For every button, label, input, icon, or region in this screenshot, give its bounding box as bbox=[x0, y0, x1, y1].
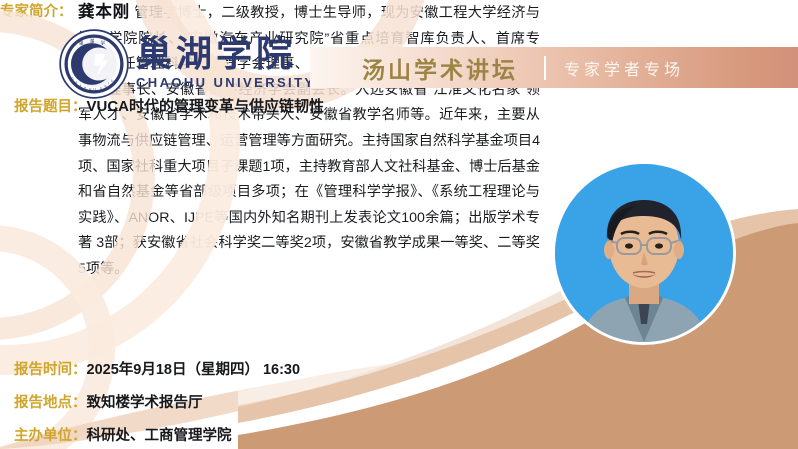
row-time: 报告时间： 2025年9月18日（星期四） 16:30 bbox=[14, 358, 300, 379]
university-branding: 巢湖学 C H A O HU U N I V 巢湖学院 CHAOHU UNIVE… bbox=[58, 28, 315, 100]
band-separator-icon bbox=[544, 56, 546, 80]
header-band: 汤山学术讲坛 专家学者专场 bbox=[310, 47, 798, 88]
seminar-poster: 巢湖学 C H A O HU U N I V 巢湖学院 CHAOHU UNIVE… bbox=[0, 0, 798, 449]
university-name-cn: 巢湖学院 bbox=[136, 36, 315, 74]
row-host: 主办单位： 科研处、工商管理学院 bbox=[14, 424, 232, 445]
place-value: 致知楼学术报告厅 bbox=[87, 391, 203, 412]
band-title: 汤山学术讲坛 bbox=[362, 51, 518, 85]
speaker-portrait-photo bbox=[555, 164, 733, 342]
place-label: 报告地点： bbox=[14, 391, 87, 412]
time-value: 2025年9月18日（星期四） 16:30 bbox=[87, 358, 301, 379]
bio-label: 专家简介： bbox=[0, 0, 73, 21]
host-value: 科研处、工商管理学院 bbox=[87, 424, 232, 445]
chaohu-university-crest-icon: 巢湖学 C H A O HU U N I V bbox=[58, 28, 130, 100]
university-name-en: CHAOHU UNIVERSITY bbox=[136, 75, 315, 90]
university-name-block: 巢湖学院 CHAOHU UNIVERSITY bbox=[136, 36, 315, 93]
topic-label: 报告题目： bbox=[14, 95, 87, 116]
band-subtitle: 专家学者专场 bbox=[564, 56, 684, 80]
row-topic: 报告题目： VUCA时代的管理变革与供应链韧性 bbox=[14, 95, 324, 116]
row-place: 报告地点： 致知楼学术报告厅 bbox=[14, 391, 203, 412]
speaker-name: 龚本刚 bbox=[78, 3, 130, 21]
topic-value: VUCA时代的管理变革与供应链韧性 bbox=[87, 95, 325, 116]
time-label: 报告时间： bbox=[14, 358, 87, 379]
host-label: 主办单位： bbox=[14, 424, 87, 445]
